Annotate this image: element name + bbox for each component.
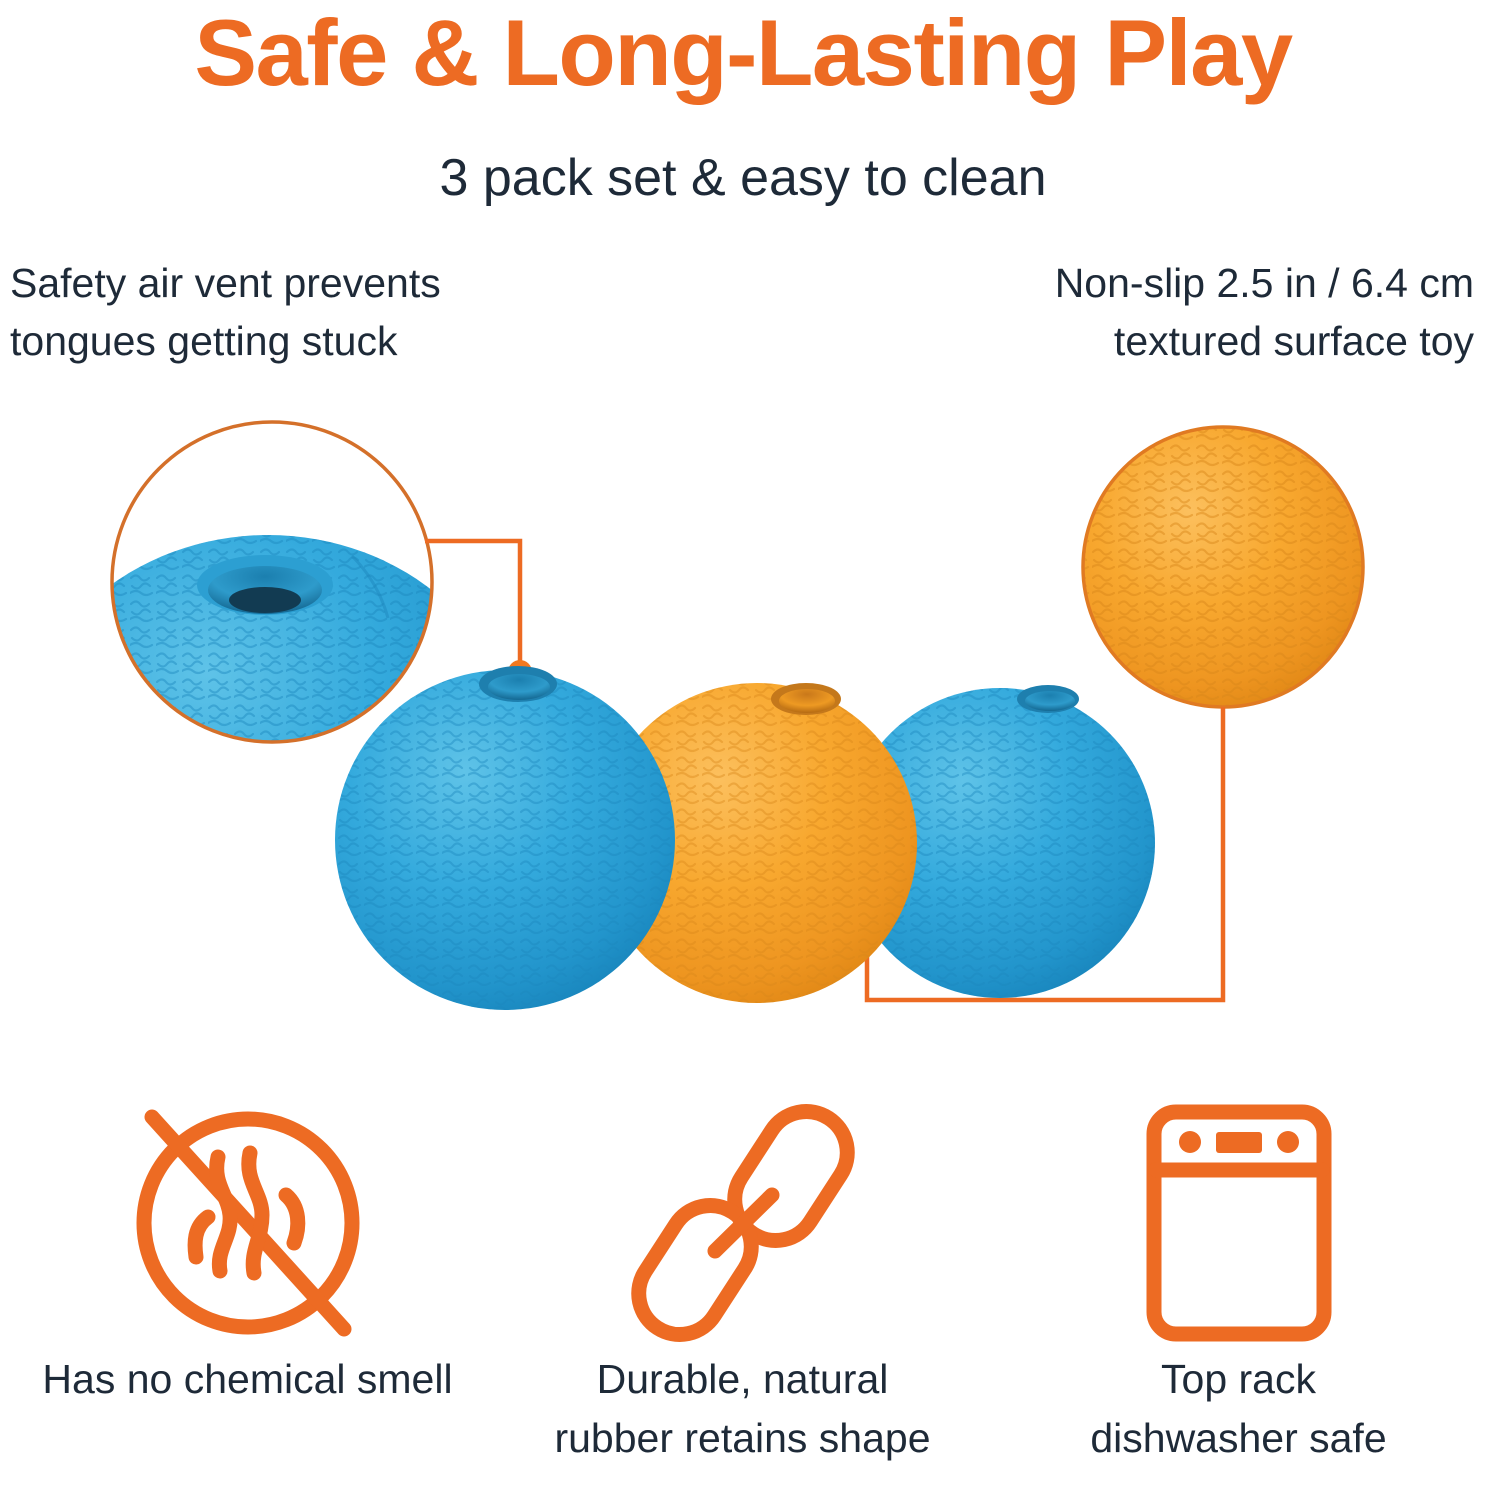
- ball-orange-middle: [597, 683, 917, 1003]
- feature-no-chemical-smell: Has no chemical smell: [0, 1095, 495, 1500]
- callout-caption-right: Non-slip 2.5 in / 6.4 cm textured surfac…: [914, 254, 1474, 370]
- callout-circle-left: [18, 422, 518, 985]
- feature-icon-wrap: [0, 1095, 495, 1350]
- page-subtitle: 3 pack set & easy to clean: [0, 150, 1486, 207]
- no-chemical-smell-icon: [122, 1101, 374, 1345]
- feature-label-durable-rubber: Durable, natural rubber retains shape: [495, 1350, 990, 1469]
- callout-caption-right-line2: textured surface toy: [914, 312, 1474, 370]
- dishwasher-controls: [1179, 1131, 1299, 1153]
- feature-icon-wrap: [495, 1095, 990, 1350]
- callout-caption-left: Safety air vent prevents tongues getting…: [10, 254, 540, 370]
- leader-line-left: [425, 541, 532, 684]
- infographic-canvas: Safe & Long-Lasting Play 3 pack set & ea…: [0, 0, 1486, 1500]
- feature-label-dishwasher-safe: Top rack dishwasher safe: [991, 1350, 1486, 1469]
- feature-durable-rubber: Durable, natural rubber retains shape: [495, 1095, 990, 1500]
- callout-caption-left-line2: tongues getting stuck: [10, 312, 540, 370]
- callout-caption-left-line1: Safety air vent prevents: [10, 254, 540, 312]
- leader-line-right: [855, 707, 1223, 1000]
- ball-blue-right: [845, 685, 1155, 998]
- feature-icon-wrap: [991, 1095, 1486, 1350]
- feature-row: Has no chemical smell Durable,: [0, 1095, 1486, 1500]
- feature-label-line2: dishwasher safe: [1011, 1409, 1466, 1468]
- dishwasher-icon: [1144, 1104, 1334, 1342]
- feature-label-line1: Top rack: [1011, 1350, 1466, 1409]
- callout-circle-right: [1083, 427, 1363, 707]
- chain-link-icon: [622, 1101, 864, 1345]
- feature-dishwasher-safe: Top rack dishwasher safe: [991, 1095, 1486, 1500]
- ball-blue-left: [335, 666, 675, 1010]
- feature-label-line1: Has no chemical smell: [20, 1350, 475, 1409]
- callout-caption-right-line1: Non-slip 2.5 in / 6.4 cm: [914, 254, 1474, 312]
- feature-label-line1: Durable, natural: [515, 1350, 970, 1409]
- feature-label-no-chemical-smell: Has no chemical smell: [0, 1350, 495, 1409]
- feature-label-line2: rubber retains shape: [515, 1409, 970, 1468]
- page-title: Safe & Long-Lasting Play: [0, 4, 1486, 102]
